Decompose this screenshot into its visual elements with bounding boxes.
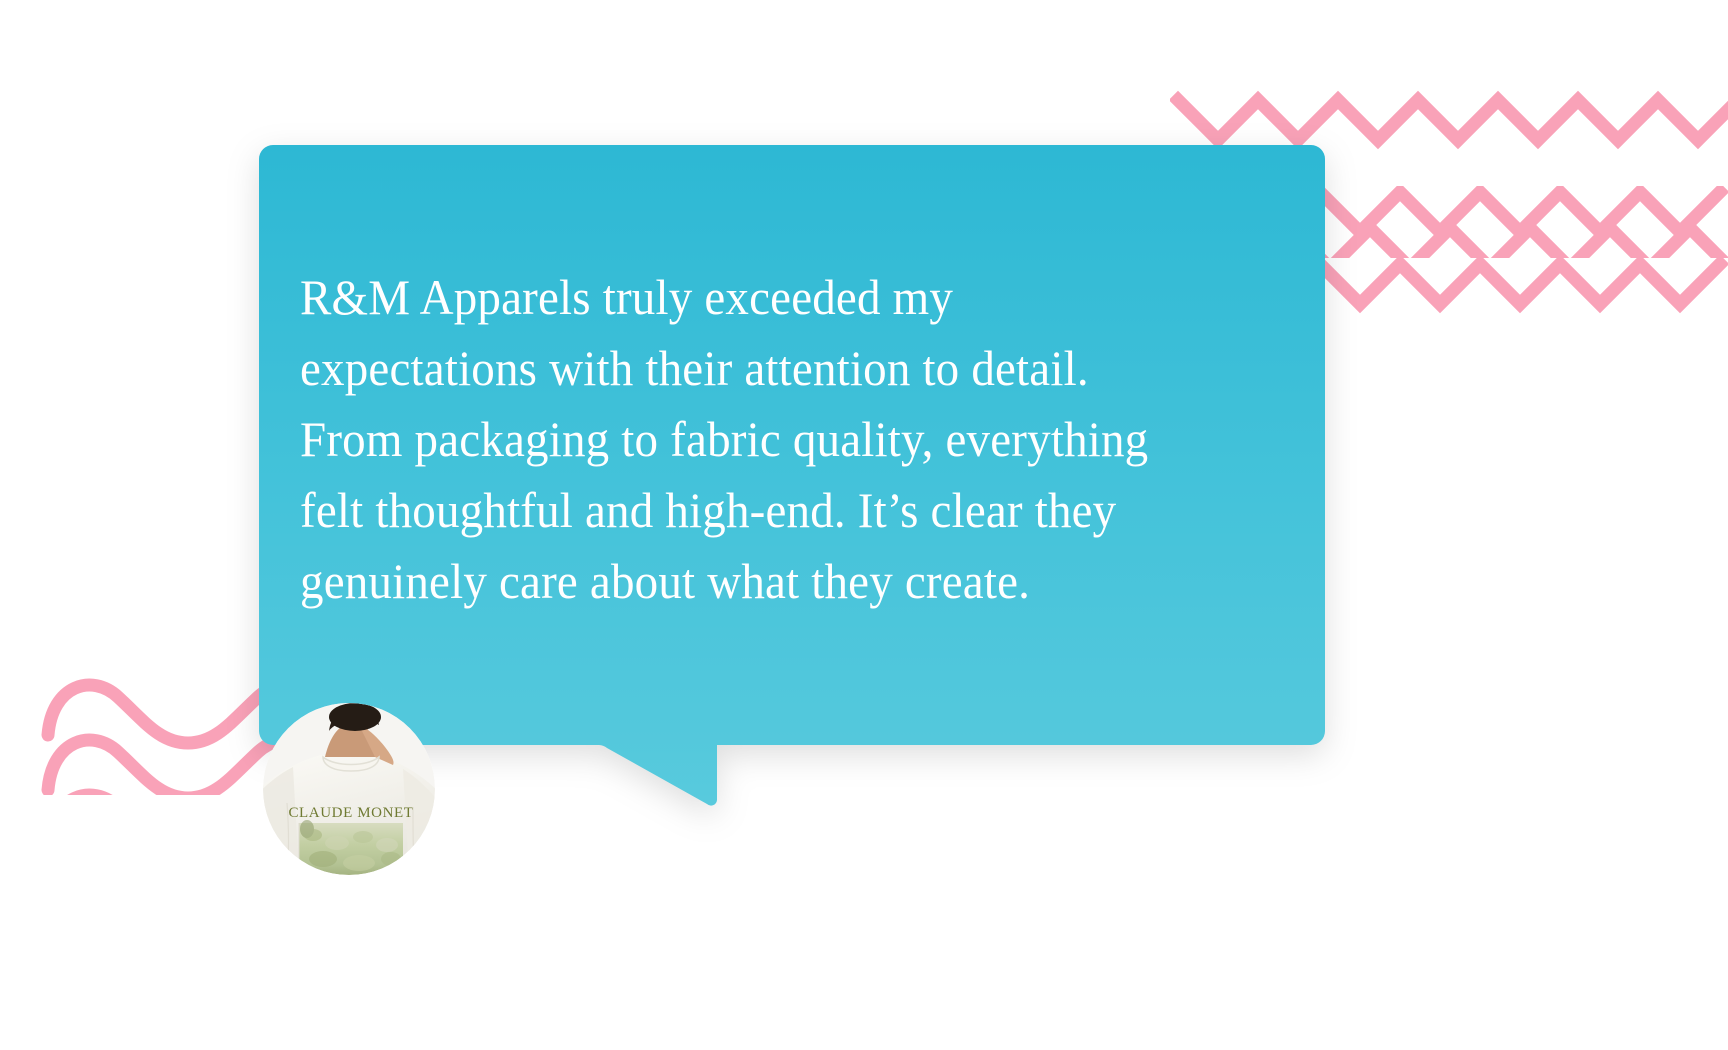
quote-line: R&M Apparels truly exceeded my [300, 262, 1207, 333]
quote-line: genuinely care about what they create. [300, 546, 1207, 617]
testimonial-canvas: R&M Apparels truly exceeded my expectati… [0, 0, 1728, 1050]
testimonial-quote: R&M Apparels truly exceeded my expectati… [300, 262, 1207, 617]
quote-line: expectations with their attention to det… [300, 333, 1207, 404]
avatar: CLAUDE MONET [263, 703, 435, 875]
avatar-photo: CLAUDE MONET [263, 703, 435, 875]
quote-line: felt thoughtful and high-end. It’s clear… [300, 475, 1207, 546]
shirt-brand-text: CLAUDE MONET [288, 805, 413, 821]
quote-line: From packaging to fabric quality, everyt… [300, 404, 1207, 475]
